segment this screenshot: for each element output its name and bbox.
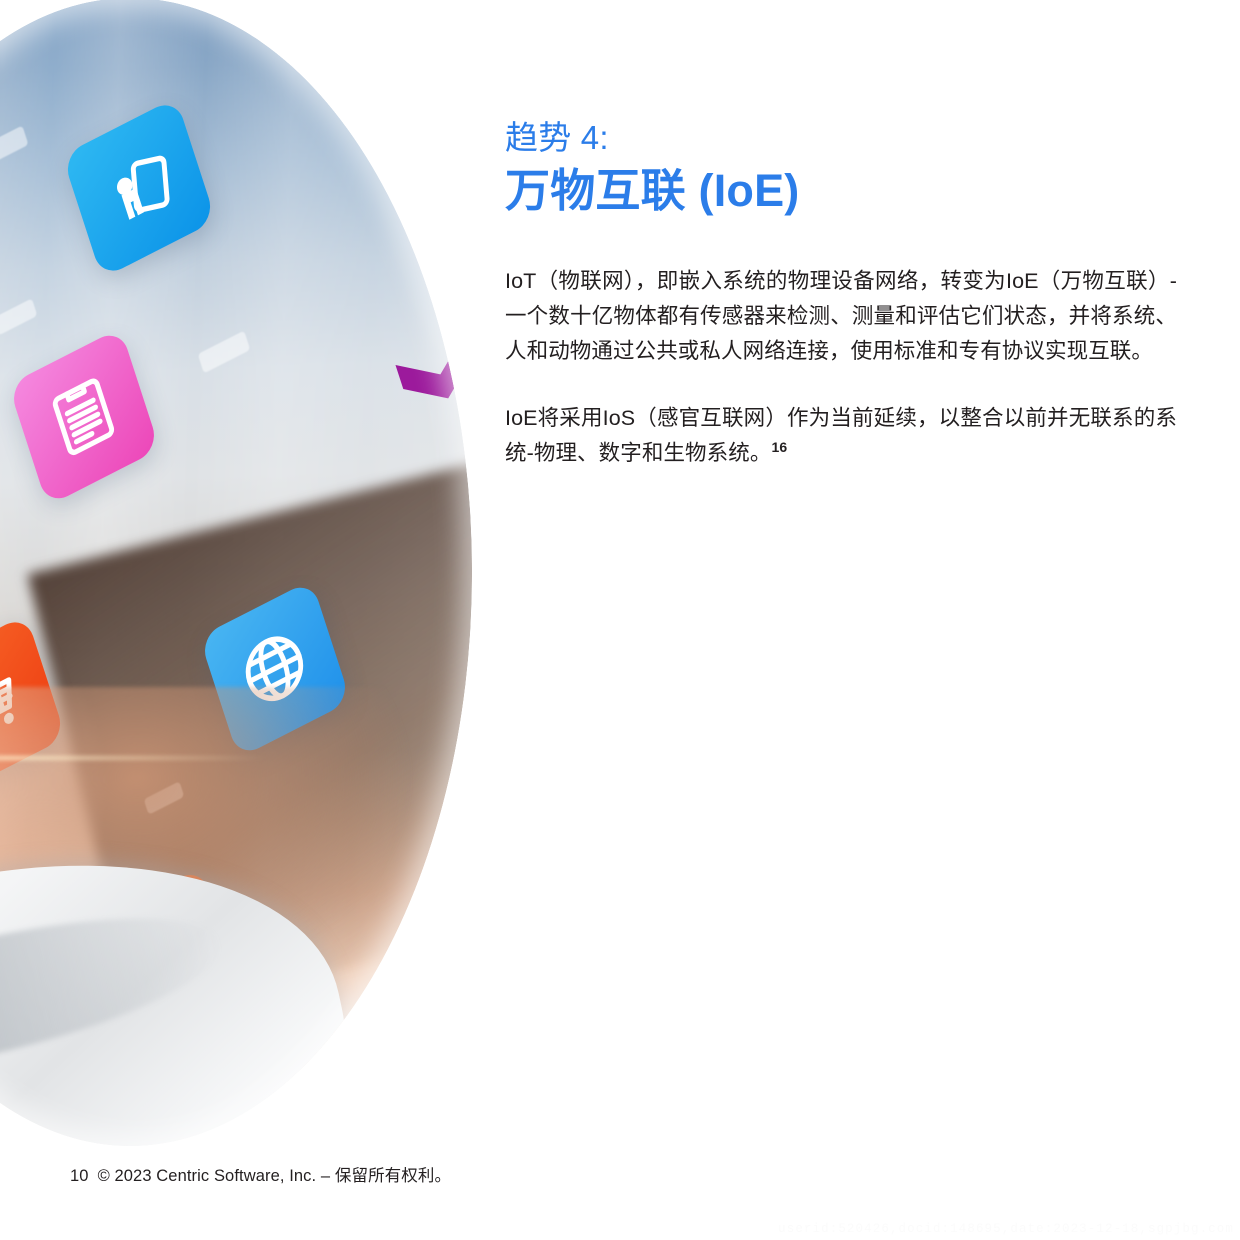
footnote-marker: 16: [771, 438, 787, 454]
page-footer: 10© 2023 Centric Software, Inc. – 保留所有权利…: [70, 1162, 451, 1186]
paragraph-2: IoE将采用IoS（感官互联网）作为当前延续，以整合以前并无联系的系统-物理、数…: [505, 401, 1177, 471]
watermark: userid:520426,docid:148695,date:2023-12-…: [778, 1222, 1234, 1236]
page-number: 10: [70, 1167, 89, 1185]
hero-image-mask: [0, 0, 472, 1146]
copyright-notice: © 2023 Centric Software, Inc. – 保留所有权利。: [98, 1167, 452, 1185]
paragraph-2-text: IoE将采用IoS（感官互联网）作为当前延续，以整合以前并无联系的系统-物理、数…: [505, 406, 1177, 465]
page-title: 万物互联 (IoE): [505, 164, 1177, 218]
body-text-block: IoT（物联网），即嵌入系统的物理设备网络，转变为IoE（万物互联）-一个数十亿…: [505, 264, 1177, 470]
lens-flare-streak: [0, 756, 267, 760]
content-column: 趋势 4: 万物互联 (IoE) IoT（物联网），即嵌入系统的物理设备网络，转…: [505, 118, 1177, 470]
hero-circle-image: [0, 0, 472, 1146]
trend-eyebrow: 趋势 4:: [505, 118, 1177, 158]
paragraph-1: IoT（物联网），即嵌入系统的物理设备网络，转变为IoE（万物互联）-一个数十亿…: [505, 264, 1177, 368]
